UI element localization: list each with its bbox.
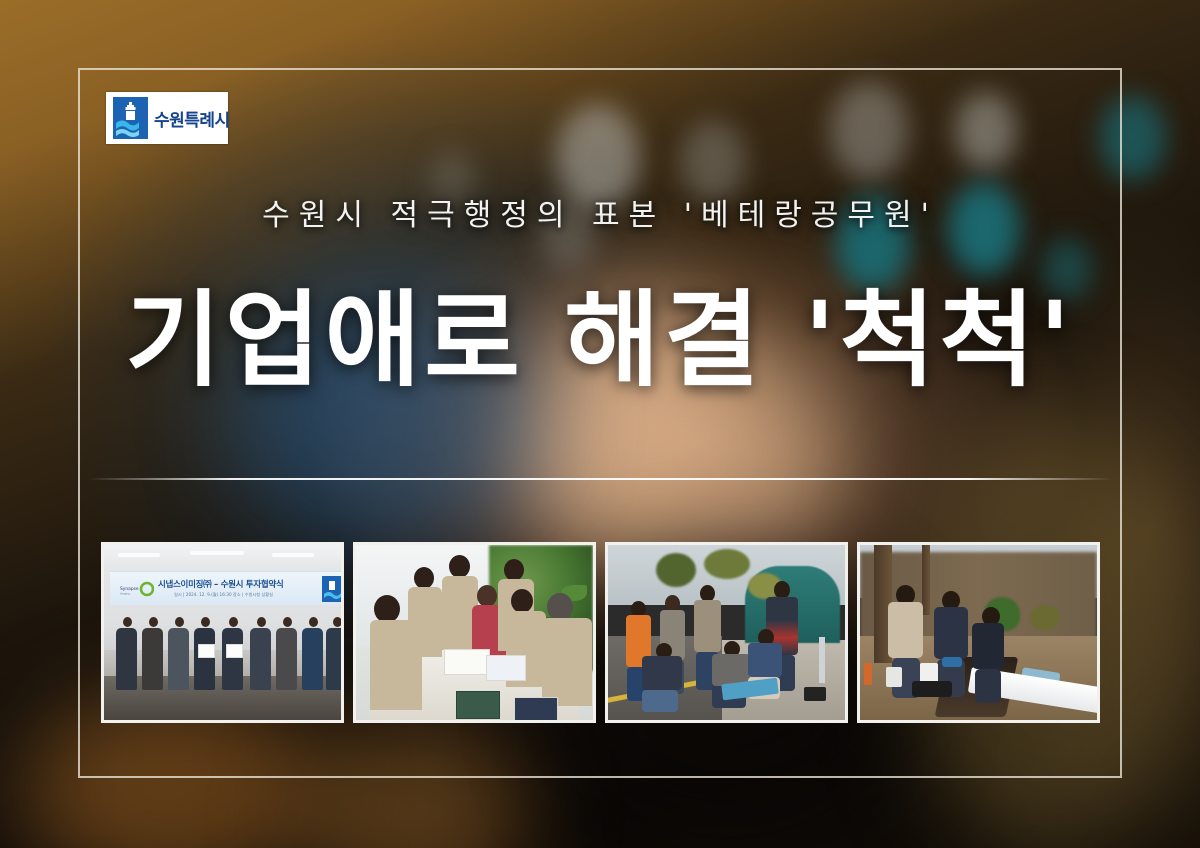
bokeh-teal-3	[1100, 96, 1166, 180]
pipe-materials	[912, 681, 952, 697]
bokeh-grey-4	[955, 92, 1017, 170]
svg-text:Synapse: Synapse	[120, 586, 139, 592]
background-warm-mid	[300, 720, 530, 848]
equipment-case	[804, 687, 826, 701]
blue-pipe	[942, 657, 962, 667]
page-title: 기업애로 해결 '척척'	[0, 283, 1200, 397]
photo-excavation-inspection[interactable]	[857, 542, 1100, 723]
shrub	[1030, 605, 1060, 631]
safety-cone	[864, 663, 872, 685]
bollard	[819, 637, 825, 683]
suwon-tower-water-emblem-icon	[113, 97, 148, 139]
inspector-3	[972, 607, 1004, 703]
photo-office-meeting[interactable]	[353, 542, 596, 723]
photo-strip: Synapse Imaging 시냅스이미징㈜ – 수원시 투자협약식 일시 |…	[101, 542, 1100, 723]
suwon-city-logo: 수원특례시	[106, 92, 228, 144]
subtitle: 수원시 적극행정의 표본 '베테랑공무원'	[0, 190, 1200, 234]
photo1-banner-subtitle: 일시 | 2024. 12. 9.(월) 16:30 장소 | 수원시청 상황실	[174, 592, 273, 598]
bokeh-grey-3	[830, 82, 908, 180]
photo1-banner-title: 시냅스이미징㈜ – 수원시 투자협약식	[158, 578, 283, 590]
company-logo-synapse: Synapse Imaging	[120, 581, 154, 597]
photo1-city-emblem-icon	[322, 576, 341, 602]
horizontal-divider	[88, 478, 1112, 480]
photo-roadside-inspection[interactable]	[605, 542, 848, 723]
photo-signing-ceremony[interactable]: Synapse Imaging 시냅스이미징㈜ – 수원시 투자협약식 일시 |…	[101, 542, 344, 723]
logo-label: 수원특례시	[154, 106, 230, 131]
staff-2	[408, 567, 442, 657]
worker-crouch-1	[642, 643, 682, 712]
svg-text:Imaging: Imaging	[120, 593, 130, 596]
staff-7	[542, 593, 592, 706]
